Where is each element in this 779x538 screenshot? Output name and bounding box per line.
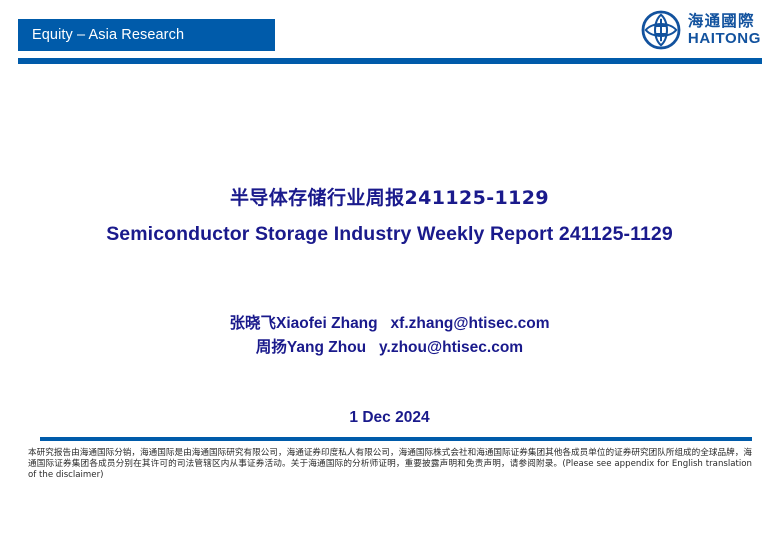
haitong-emblem-icon [641, 10, 681, 50]
author-line-primary: 张晓飞Xiaofei Zhang xf.zhang@htisec.com [0, 312, 779, 336]
logo-wordmark: 海通國際 HAITONG [688, 14, 761, 47]
report-title-block: 半导体存储行业周报241125-1129 Semiconductor Stora… [0, 186, 779, 247]
author-block: 张晓飞Xiaofei Zhang xf.zhang@htisec.com 周扬Y… [0, 312, 779, 360]
header-category-label: Equity – Asia Research [32, 27, 184, 43]
report-cover-page: Equity – Asia Research 海通國際 HAITONG 半导体存… [0, 0, 779, 538]
disclaimer-text: 本研究报告由海通国际分销，海通国际是由海通国际研究有限公司，海通证券印度私人有限… [28, 448, 752, 480]
footer-divider-rule [40, 437, 752, 441]
report-title-chinese: 半导体存储行业周报241125-1129 [0, 186, 779, 212]
report-date: 1 Dec 2024 [0, 409, 779, 427]
logo-english-name: HAITONG [688, 31, 761, 46]
report-title-english: Semiconductor Storage Industry Weekly Re… [0, 221, 779, 247]
logo-chinese-name: 海通國際 [688, 14, 761, 30]
disclaimer-block: 本研究报告由海通国际分销，海通国际是由海通国际研究有限公司，海通证券印度私人有限… [28, 448, 752, 480]
header-divider-rule [18, 58, 762, 64]
author-line-secondary: 周扬Yang Zhou y.zhou@htisec.com [0, 336, 779, 360]
haitong-logo: 海通國際 HAITONG [641, 10, 761, 50]
header-category-banner: Equity – Asia Research [18, 19, 275, 51]
